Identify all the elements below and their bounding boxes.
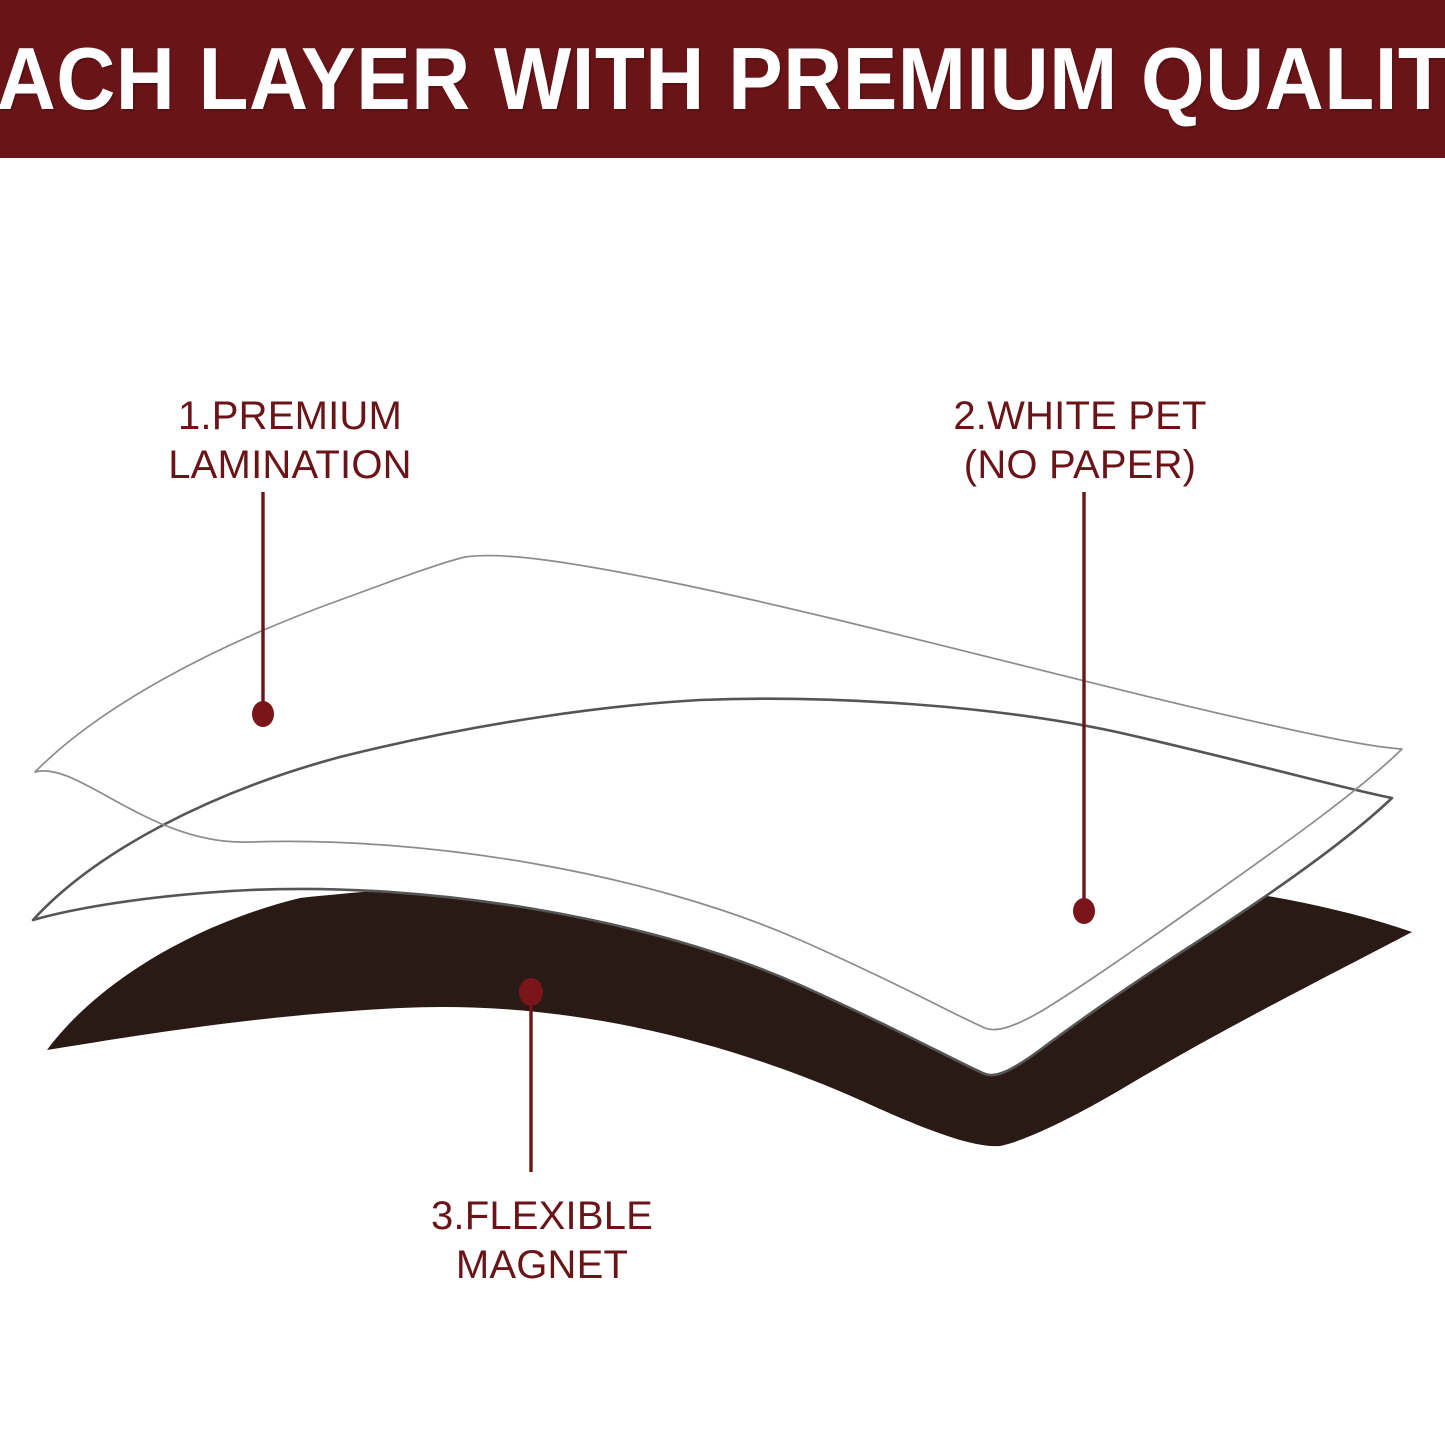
callout-dot-flexible-magnet <box>519 978 543 1006</box>
product-infographic: EACH LAYER WITH PREMIUM QUALITY <box>0 0 1445 1445</box>
callout-dot-white-pet <box>1073 898 1095 924</box>
callout-label-white-pet: 2.WHITE PET (NO PAPER) <box>890 392 1270 490</box>
callout-label-flexible-magnet: 3.FLEXIBLE MAGNET <box>352 1192 732 1290</box>
callout-label-premium-lamination: 1.PREMIUM LAMINATION <box>100 392 480 490</box>
callout-dot-lamination <box>252 701 274 727</box>
